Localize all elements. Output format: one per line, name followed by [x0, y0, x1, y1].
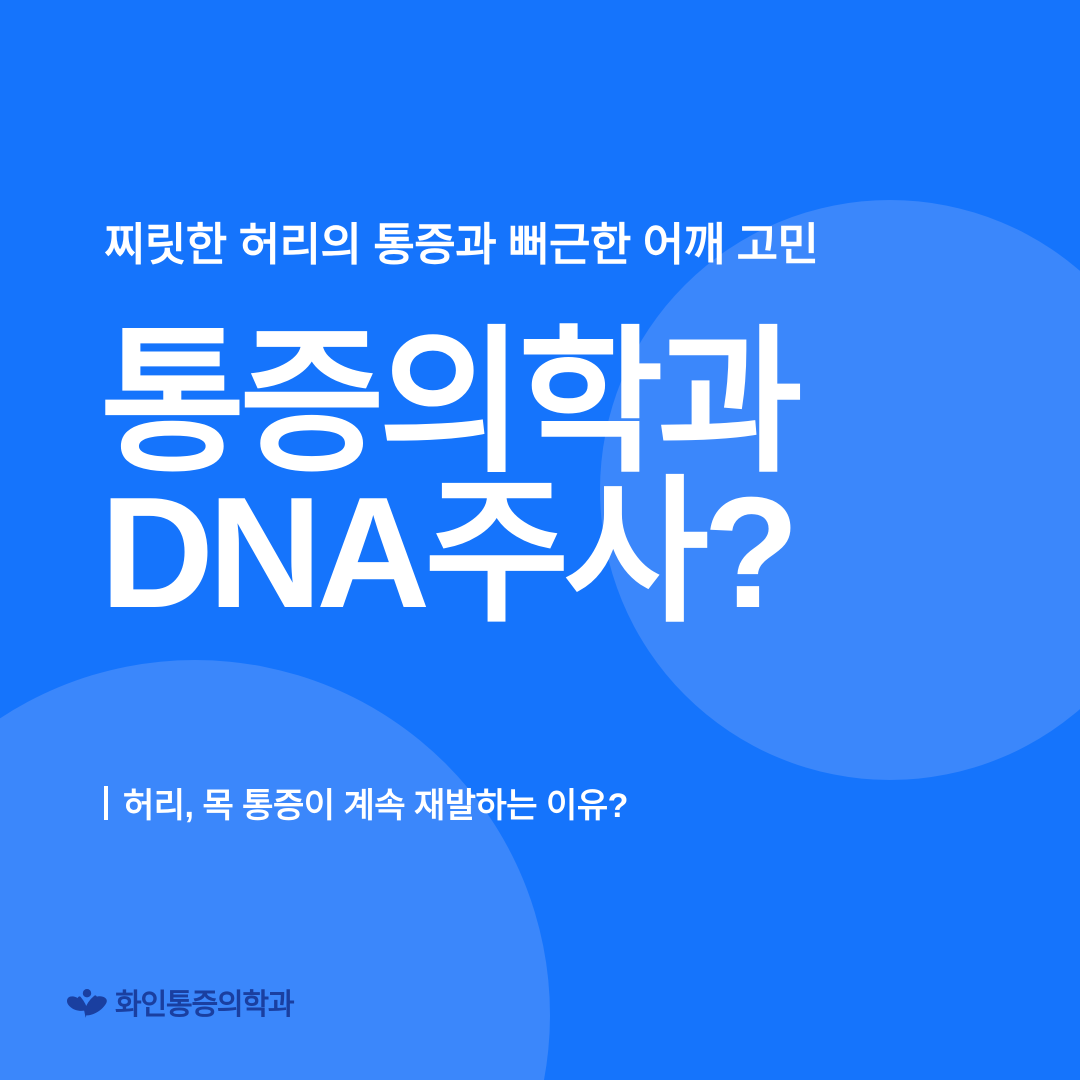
poster-content: 찌릿한 허리의 통증과 뻐근한 어깨 고민 통증의학과 DNA주사? 허리, 목… [0, 0, 1080, 1080]
caption-text: 허리, 목 통증이 계속 재발하는 이유? [123, 778, 628, 827]
poster-canvas: 찌릿한 허리의 통증과 뻐근한 어깨 고민 통증의학과 DNA주사? 허리, 목… [0, 0, 1080, 1080]
headline-line-1: 통증의학과 [100, 328, 797, 478]
logo-wordmark: 화인통증의학과 [115, 991, 293, 1020]
headline-line-2: DNA주사? [100, 478, 797, 628]
leaf-figure-logo-icon [66, 988, 108, 1022]
caption-bar-icon [104, 786, 108, 820]
page-title: 통증의학과 DNA주사? [100, 328, 797, 628]
caption: 허리, 목 통증이 계속 재발하는 이유? [104, 778, 628, 827]
eyebrow-text: 찌릿한 허리의 통증과 뻐근한 어깨 고민 [104, 222, 818, 267]
brand-logo: 화인통증의학과 [66, 988, 293, 1022]
